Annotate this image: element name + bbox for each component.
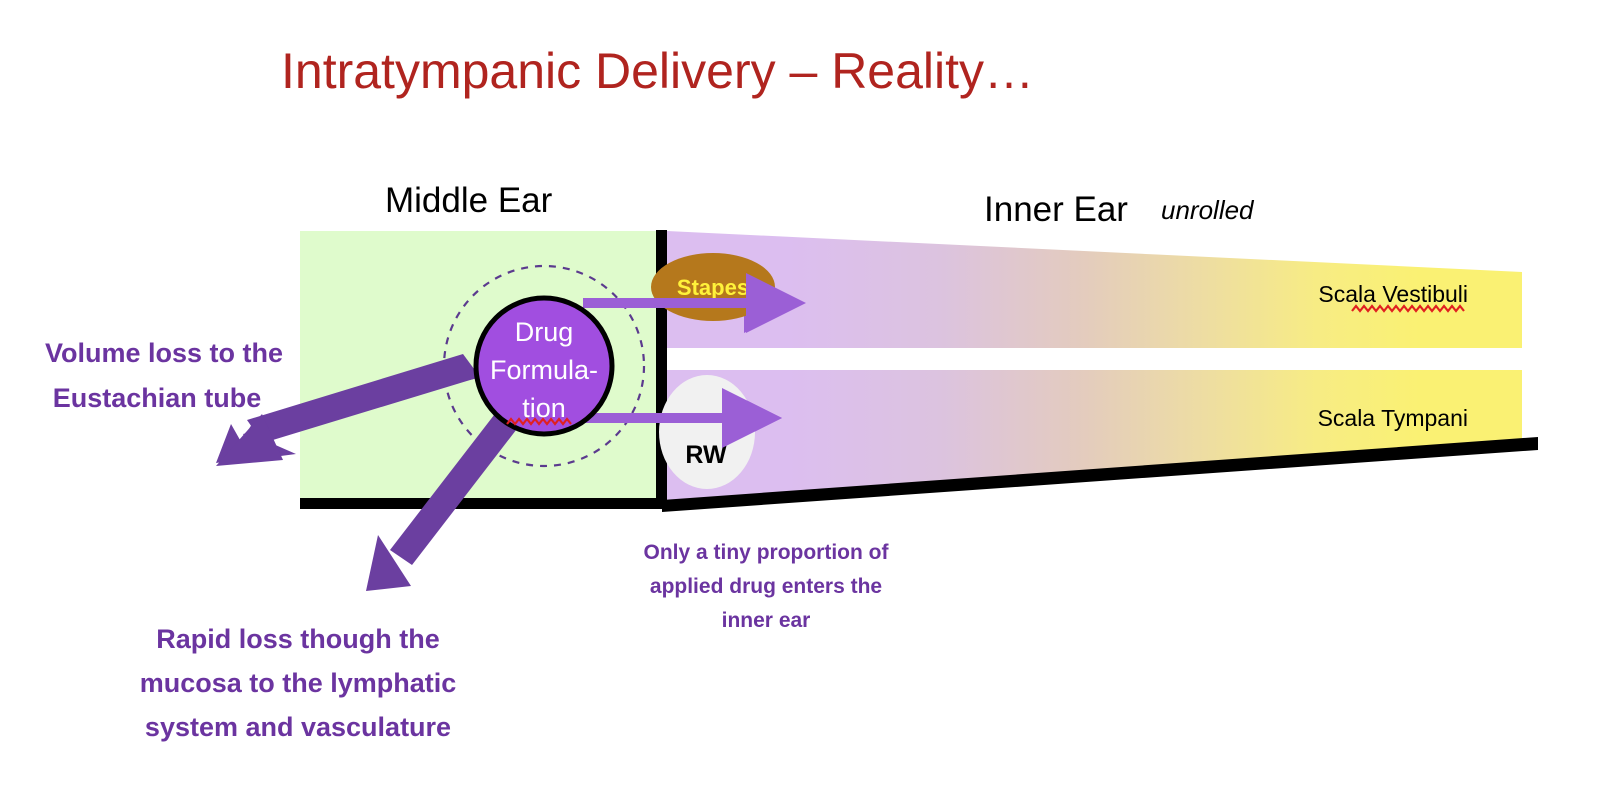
mucosa-annotation-line3: system and vasculature (145, 712, 451, 742)
scala-vestibuli-label: Scala Vestibuli (1318, 281, 1468, 307)
round-window-label: RW (685, 441, 727, 469)
mucosa-annotation-line2: mucosa to the lymphatic (140, 668, 457, 698)
page-title: Intratympanic Delivery – Reality… (281, 43, 1034, 99)
diagram-svg: Intratympanic Delivery – Reality… Middle… (0, 0, 1612, 810)
drug-formulation-label-line2: Formula- (490, 355, 598, 385)
tiny-proportion-annotation-line2: applied drug enters the (650, 575, 882, 598)
slide-canvas: Intratympanic Delivery – Reality… Middle… (0, 0, 1612, 810)
middle-ear-label: Middle Ear (385, 181, 553, 220)
round-window-shape (659, 375, 755, 489)
inner-ear-unrolled-label: unrolled (1161, 195, 1255, 225)
eustachian-annotation-line1: Volume loss to the (45, 338, 283, 368)
tiny-proportion-annotation-line3: inner ear (722, 609, 811, 632)
stapes-label: Stapes (677, 275, 749, 300)
inner-ear-label: Inner Ear (984, 190, 1128, 229)
drug-formulation-label-line1: Drug (515, 317, 574, 347)
middle-ear-floor-line (300, 498, 662, 509)
tiny-proportion-annotation-line1: Only a tiny proportion of (644, 541, 890, 564)
mucosa-annotation-line1: Rapid loss though the (156, 624, 440, 654)
scala-tympani-label: Scala Tympani (1318, 405, 1468, 431)
eustachian-annotation-line2: Eustachian tube (53, 383, 262, 413)
